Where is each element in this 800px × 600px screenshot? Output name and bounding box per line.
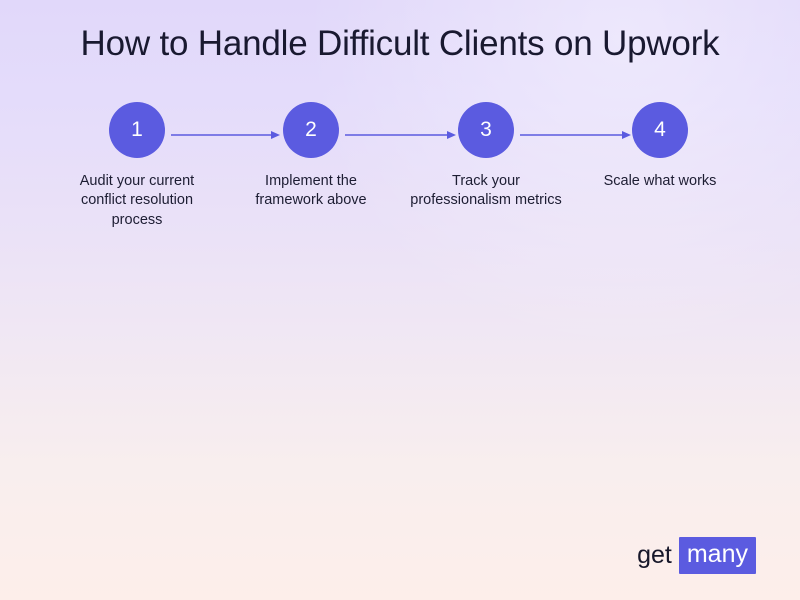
step-1-circle[interactable]: 1 bbox=[109, 102, 165, 158]
step-3-circle[interactable]: 3 bbox=[458, 102, 514, 158]
step-2-caption: Implement the framework above bbox=[224, 172, 398, 211]
logo-word-many-badge: many bbox=[679, 537, 756, 574]
step-3-caption: Track your professionalism metrics bbox=[399, 172, 573, 211]
step-1-caption: Audit your current conflict resolution p… bbox=[50, 172, 224, 230]
step-2-number: 2 bbox=[305, 119, 317, 140]
process-step-1[interactable]: 1 Audit your current conflict resolution… bbox=[50, 102, 224, 230]
step-4-circle[interactable]: 4 bbox=[632, 102, 688, 158]
brand-logo: get many bbox=[637, 537, 756, 574]
slide-canvas: How to Handle Difficult Clients on Upwor… bbox=[0, 0, 800, 600]
logo-word-get: get bbox=[637, 543, 679, 568]
step-1-number: 1 bbox=[131, 119, 143, 140]
process-flow: 1 Audit your current conflict resolution… bbox=[0, 102, 800, 252]
step-3-number: 3 bbox=[480, 119, 492, 140]
process-step-4[interactable]: 4 Scale what works bbox=[573, 102, 747, 191]
process-step-2[interactable]: 2 Implement the framework above bbox=[224, 102, 398, 211]
step-2-circle[interactable]: 2 bbox=[283, 102, 339, 158]
step-4-number: 4 bbox=[654, 119, 666, 140]
process-step-3[interactable]: 3 Track your professionalism metrics bbox=[399, 102, 573, 211]
page-title: How to Handle Difficult Clients on Upwor… bbox=[0, 24, 800, 64]
step-4-caption: Scale what works bbox=[573, 172, 747, 191]
